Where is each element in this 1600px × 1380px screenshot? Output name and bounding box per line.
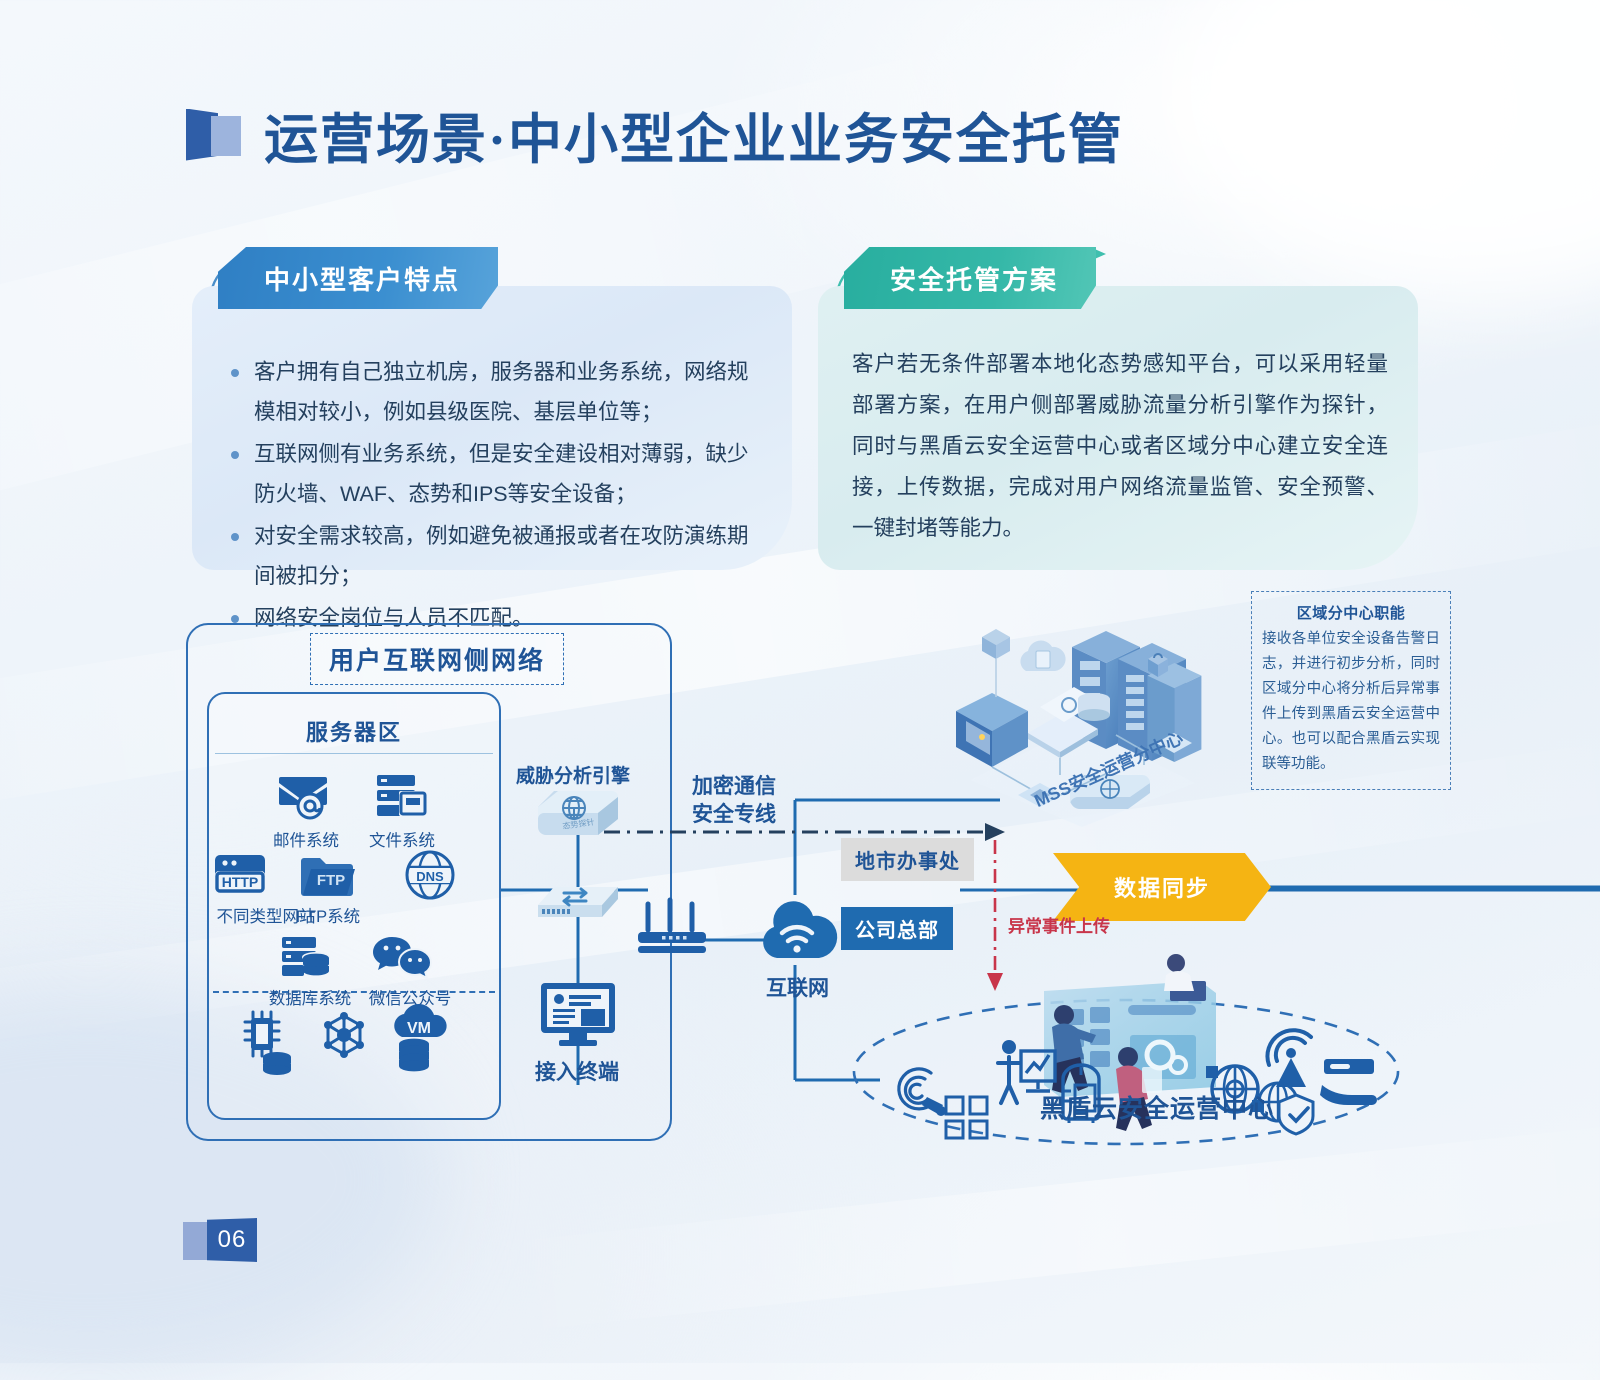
encrypted-line-label-2: 安全专线 xyxy=(692,798,776,828)
card-customer-traits: 中小型客户特点 客户拥有自己独立机房，服务器和业务系统，网络规模相对较小，例如县… xyxy=(192,240,792,570)
card-security-hosting-plan: 安全托管方案 客户若无条件部署本地化态势感知平台，可以采用轻量部署方案，在用户侧… xyxy=(818,240,1418,570)
card-heading-security-hosting: 安全托管方案 xyxy=(844,247,1096,309)
mss-datacenter-illustration xyxy=(930,615,1230,830)
grid-icon xyxy=(944,1095,990,1141)
abnormal-event-upload-label: 异常事件上传 xyxy=(1008,912,1110,937)
fingerprint-icon xyxy=(891,1061,947,1117)
internet-cloud-icon xyxy=(757,900,837,966)
hand-server-icon xyxy=(1320,1057,1382,1111)
regional-center-text: 接收各单位安全设备告警日志，并进行初步分析，同时区域分中心将分析后异常事件上传到… xyxy=(1262,627,1440,777)
router-icon xyxy=(636,900,708,958)
encrypted-line-label-1: 加密通信 xyxy=(692,770,776,800)
list-item: 对安全需求较高，例如避免被通报或者在攻防演练期间被扣分； xyxy=(224,516,758,596)
list-item: 互联网侧有业务系统，但是安全建设相对薄弱，缺少防火墙、WAF、态势和IPS等安全… xyxy=(224,434,758,514)
security-hosting-paragraph: 客户若无条件部署本地化态势感知平台，可以采用轻量部署方案，在用户侧部署威胁流量分… xyxy=(852,344,1388,549)
terminal-label: 接入终端 xyxy=(535,1056,619,1086)
card-heading-customer-traits: 中小型客户特点 xyxy=(218,247,498,309)
page-title: 运营场景·中小型企业业务安全托管 xyxy=(186,95,1124,174)
regional-center-info-box: 区域分中心职能 接收各单位安全设备告警日志，并进行初步分析，同时区域分中心将分析… xyxy=(1251,591,1451,790)
regional-center-heading: 区域分中心职能 xyxy=(1262,602,1440,623)
switch-icon xyxy=(534,877,624,927)
headquarters-tag: 公司总部 xyxy=(841,907,953,950)
terminal-icon xyxy=(539,981,617,1047)
page-number: 06 xyxy=(183,1218,257,1262)
soc-label: 黑盾云安全运营中心 xyxy=(1040,1089,1274,1125)
page-number-text: 06 xyxy=(207,1218,257,1262)
page-title-text: 运营场景·中小型企业业务安全托管 xyxy=(264,95,1124,174)
threat-engine-label: 威胁分析引擎 xyxy=(516,761,630,788)
flag-icon xyxy=(186,109,242,161)
branch-office-tag: 地市办事处 xyxy=(841,838,974,881)
data-sync-banner: 数据同步 xyxy=(1053,853,1271,921)
list-item: 客户拥有自己独立机房，服务器和业务系统，网络规模相对较小，例如县级医院、基层单位… xyxy=(224,352,758,432)
architecture-diagram: 用户互联网侧网络 服务器区 邮件系统 文件系统 xyxy=(0,595,1600,1215)
internet-label: 互联网 xyxy=(766,972,829,1002)
threat-engine-chip-icon: 态势探针 xyxy=(530,787,626,849)
